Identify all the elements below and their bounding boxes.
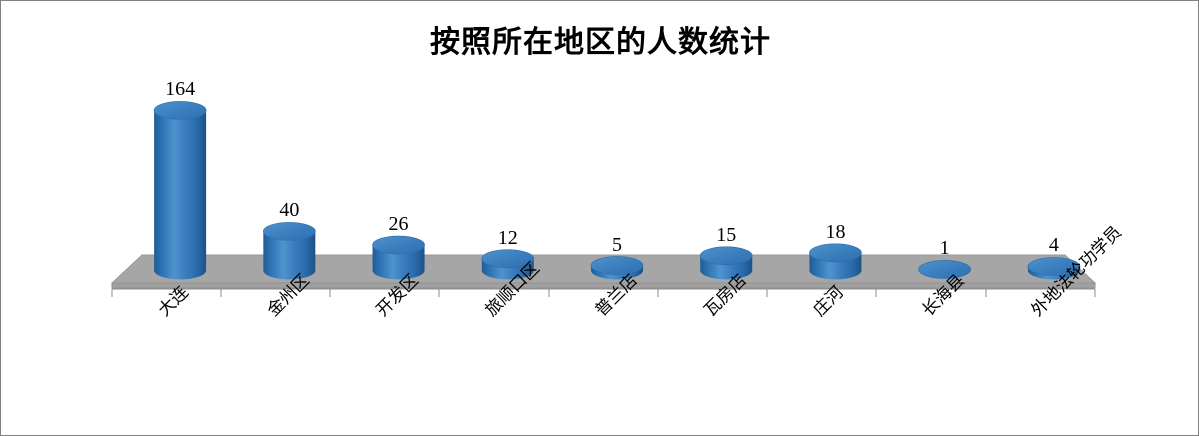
category-label-4: 普兰店 <box>588 267 642 321</box>
category-label-3: 旅顺口区 <box>478 255 544 321</box>
category-label-2: 开发区 <box>369 267 423 321</box>
category-label-1: 金州区 <box>260 267 314 321</box>
category-label-7: 长海县 <box>915 267 969 321</box>
category-label-8: 外地法轮功学员 <box>1024 219 1126 321</box>
chart-container: 按照所在地区的人数统计 <box>0 0 1199 436</box>
category-label-6: 庄河 <box>806 279 848 321</box>
category-label-5: 瓦房店 <box>697 267 751 321</box>
category-labels-layer: 大连金州区开发区旅顺口区普兰店瓦房店庄河长海县外地法轮功学员 <box>1 1 1199 436</box>
category-label-0: 大连 <box>151 279 193 321</box>
